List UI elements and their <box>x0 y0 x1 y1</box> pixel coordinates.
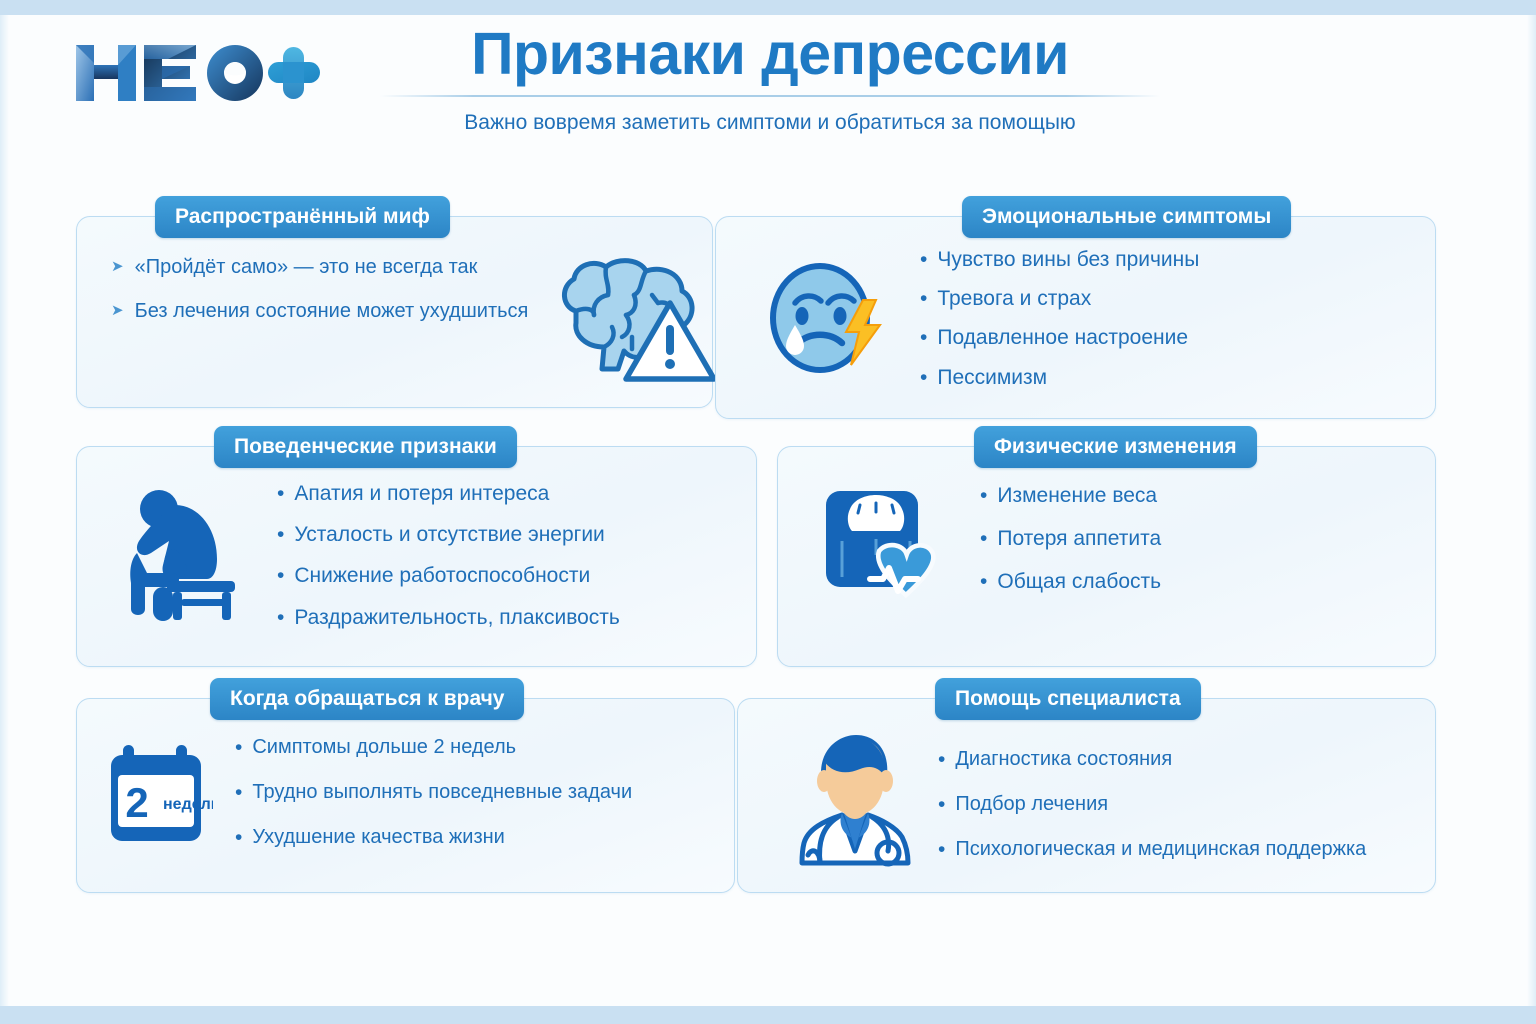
list-item-label: Общая слабость <box>997 569 1161 594</box>
list-item-label: Ухудшение качества жизни <box>252 825 504 849</box>
list-item: • Потеря аппетита <box>980 526 1435 551</box>
dot-bullet-icon: • <box>938 837 945 862</box>
calendar-caption: недели <box>163 796 213 813</box>
title-divider <box>380 95 1160 97</box>
list-item: • Снижение работоспособности <box>277 563 756 588</box>
card-physical-list: • Изменение веса • Потеря аппетита • Общ… <box>980 479 1435 595</box>
card-behavior: Поведенческие признаки <box>76 446 757 667</box>
list-item: • Раздражительность, плаксивость <box>277 605 756 630</box>
card-help: Помощь специалиста <box>737 698 1436 893</box>
list-item-label: Изменение веса <box>997 483 1157 508</box>
list-item-label: Без лечения состояние может ухудшиться <box>135 299 529 323</box>
card-physical-body: • Изменение веса • Потеря аппетита • Общ… <box>778 447 1435 666</box>
header: Признаки депрессии Важно вовремя заметит… <box>0 15 1536 165</box>
dot-bullet-icon: • <box>235 780 242 805</box>
brain-warning-icon <box>546 251 718 391</box>
list-item: • Симптомы дольше 2 недель <box>235 735 734 760</box>
list-item-label: Чувство вины без причины <box>937 247 1199 272</box>
dot-bullet-icon: • <box>920 365 927 390</box>
dot-bullet-icon: • <box>980 526 987 551</box>
list-item-label: «Пройдёт само» — это не всегда так <box>135 255 478 279</box>
list-item: • Психологическая и медицинская поддержк… <box>938 837 1435 862</box>
card-emotional-body: • Чувство вины без причины • Тревога и с… <box>716 217 1435 418</box>
list-item-label: Раздражительность, плаксивость <box>294 605 620 630</box>
dot-bullet-icon: • <box>235 825 242 850</box>
page-title: Признаки депрессии <box>380 21 1160 89</box>
card-behavior-list: • Апатия и потеря интереса • Усталость и… <box>277 481 756 630</box>
card-help-body: • Диагностика состояния • Подбор лечения… <box>738 699 1435 892</box>
arrow-bullet-icon: ➤ <box>111 255 124 278</box>
card-when-list: • Симптомы дольше 2 недель • Трудно выпо… <box>235 735 734 851</box>
dot-bullet-icon: • <box>980 483 987 508</box>
sitting-person-icon <box>123 487 243 622</box>
calendar-two-weeks-icon: 2 недели <box>103 741 213 847</box>
infographic-page: Признаки депрессии Важно вовремя заметит… <box>0 0 1536 1024</box>
dot-bullet-icon: • <box>920 286 927 311</box>
dot-bullet-icon: • <box>938 792 945 817</box>
dot-bullet-icon: • <box>920 247 927 272</box>
list-item: • Тревога и страх <box>920 286 1435 311</box>
page-subtitle: Важно вовремя заметить симптоми и обрати… <box>380 111 1160 135</box>
doctor-icon <box>780 727 920 867</box>
list-item: • Ухудшение качества жизни <box>235 825 734 850</box>
dot-bullet-icon: • <box>920 325 927 350</box>
list-item: • Общая слабость <box>980 569 1435 594</box>
arrow-bullet-icon: ➤ <box>111 299 124 322</box>
list-item-label: Подавленное настроение <box>937 325 1188 350</box>
card-when: Когда обращаться к врачу 2 недели • <box>76 698 735 893</box>
dot-bullet-icon: • <box>938 747 945 772</box>
card-when-body: 2 недели • Симптомы дольше 2 недель • Тр… <box>77 699 734 892</box>
list-item-label: Усталость и отсутствие энергии <box>294 522 604 547</box>
list-item-label: Снижение работоспособности <box>294 563 590 588</box>
list-item: • Изменение веса <box>980 483 1435 508</box>
list-item: • Трудно выполнять повседневные задачи <box>235 780 734 805</box>
title-block: Признаки депрессии Важно вовремя заметит… <box>380 21 1160 135</box>
card-myth-body: ➤ «Пройдёт само» — это не всегда так ➤ Б… <box>77 217 712 407</box>
list-item-label: Тревога и страх <box>937 286 1091 311</box>
list-item-label: Подбор лечения <box>955 792 1108 816</box>
dot-bullet-icon: • <box>235 735 242 760</box>
sad-face-lightning-icon <box>762 253 892 383</box>
list-item-label: Психологическая и медицинская поддержка <box>955 837 1366 861</box>
list-item: ➤ «Пройдёт само» — это не всегда так <box>111 255 528 279</box>
list-item: • Апатия и потеря интереса <box>277 481 756 506</box>
card-physical: Физические изменения <box>777 446 1436 667</box>
dot-bullet-icon: • <box>277 563 284 588</box>
list-item-label: Потеря аппетита <box>997 526 1161 551</box>
brand-logo <box>72 33 322 113</box>
card-emotional: Эмоциональные симптомы <box>715 216 1436 419</box>
dot-bullet-icon: • <box>277 605 284 630</box>
list-item: • Подавленное настроение <box>920 325 1435 350</box>
dot-bullet-icon: • <box>980 569 987 594</box>
list-item-label: Апатия и потеря интереса <box>294 481 549 506</box>
list-item: • Усталость и отсутствие энергии <box>277 522 756 547</box>
dot-bullet-icon: • <box>277 481 284 506</box>
calendar-number: 2 <box>125 779 148 826</box>
weight-scale-heart-icon <box>820 483 946 609</box>
card-behavior-body: • Апатия и потеря интереса • Усталость и… <box>77 447 756 666</box>
list-item-label: Симптомы дольше 2 недель <box>252 735 516 759</box>
list-item-label: Пессимизм <box>937 365 1047 390</box>
cards-grid: Распространённый миф ➤ «Пройдёт само» — … <box>0 190 1536 964</box>
card-myth-list: ➤ «Пройдёт само» — это не всегда так ➤ Б… <box>111 251 528 323</box>
card-myth: Распространённый миф ➤ «Пройдёт само» — … <box>76 216 713 408</box>
list-item-label: Трудно выполнять повседневные задачи <box>252 780 632 804</box>
card-help-list: • Диагностика состояния • Подбор лечения… <box>938 723 1435 863</box>
list-item-label: Диагностика состояния <box>955 747 1172 771</box>
neo-plus-logo-icon <box>72 33 322 113</box>
list-item: • Пессимизм <box>920 365 1435 390</box>
list-item: • Подбор лечения <box>938 792 1435 817</box>
dot-bullet-icon: • <box>277 522 284 547</box>
card-emotional-list: • Чувство вины без причины • Тревога и с… <box>920 243 1435 390</box>
list-item: ➤ Без лечения состояние может ухудшиться <box>111 299 528 323</box>
list-item: • Чувство вины без причины <box>920 247 1435 272</box>
list-item: • Диагностика состояния <box>938 747 1435 772</box>
